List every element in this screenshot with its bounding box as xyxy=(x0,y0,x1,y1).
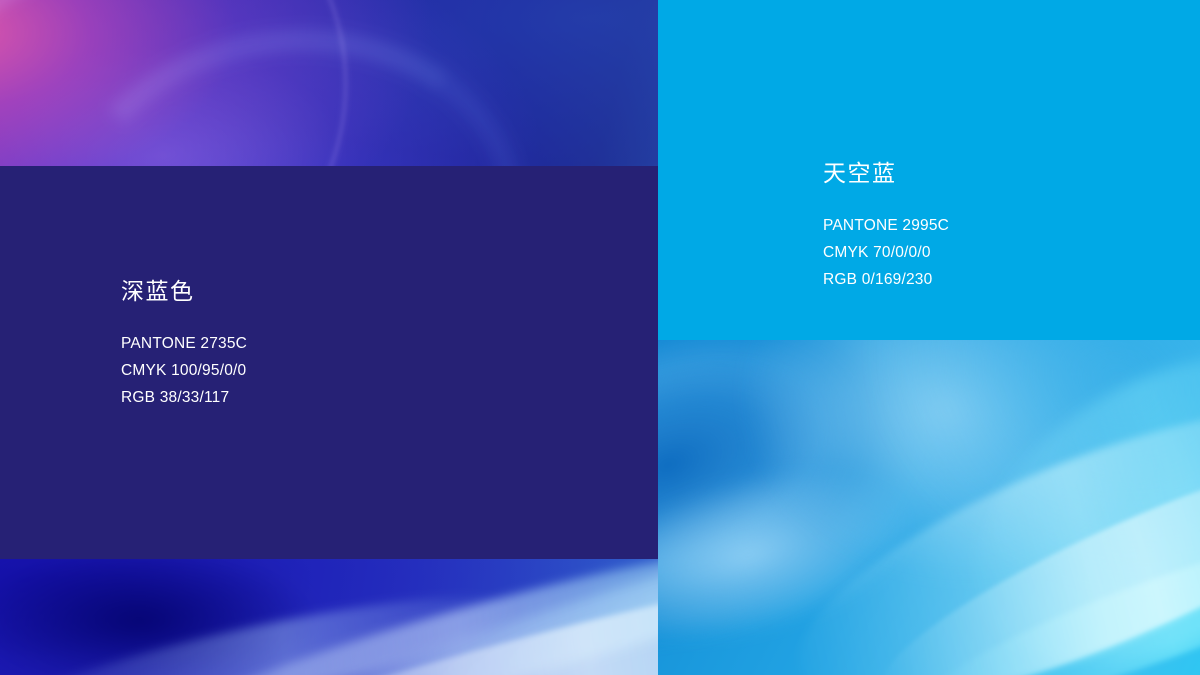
color-swatch-panel-deep-blue xyxy=(0,166,658,559)
swatch-rgb-deep-blue: RGB 38/33/117 xyxy=(121,384,247,411)
swatch-title-sky-blue: 天空蓝 xyxy=(823,158,949,188)
slide-canvas: 深蓝色 PANTONE 2735C CMYK 100/95/0/0 RGB 38… xyxy=(0,0,1200,675)
background-bottom-right-swirl xyxy=(658,340,1200,675)
swatch-pantone-sky-blue: PANTONE 2995C xyxy=(823,212,949,239)
swatch-cmyk-deep-blue: CMYK 100/95/0/0 xyxy=(121,357,247,384)
swatch-cmyk-sky-blue: CMYK 70/0/0/0 xyxy=(823,239,949,266)
background-top-left-swirl xyxy=(0,0,680,180)
swatch-pantone-deep-blue: PANTONE 2735C xyxy=(121,330,247,357)
swatch-rgb-sky-blue: RGB 0/169/230 xyxy=(823,266,949,293)
color-swatch-info-deep-blue: 深蓝色 PANTONE 2735C CMYK 100/95/0/0 RGB 38… xyxy=(121,276,247,411)
color-swatch-info-sky-blue: 天空蓝 PANTONE 2995C CMYK 70/0/0/0 RGB 0/16… xyxy=(823,158,949,293)
swatch-title-deep-blue: 深蓝色 xyxy=(121,276,247,306)
